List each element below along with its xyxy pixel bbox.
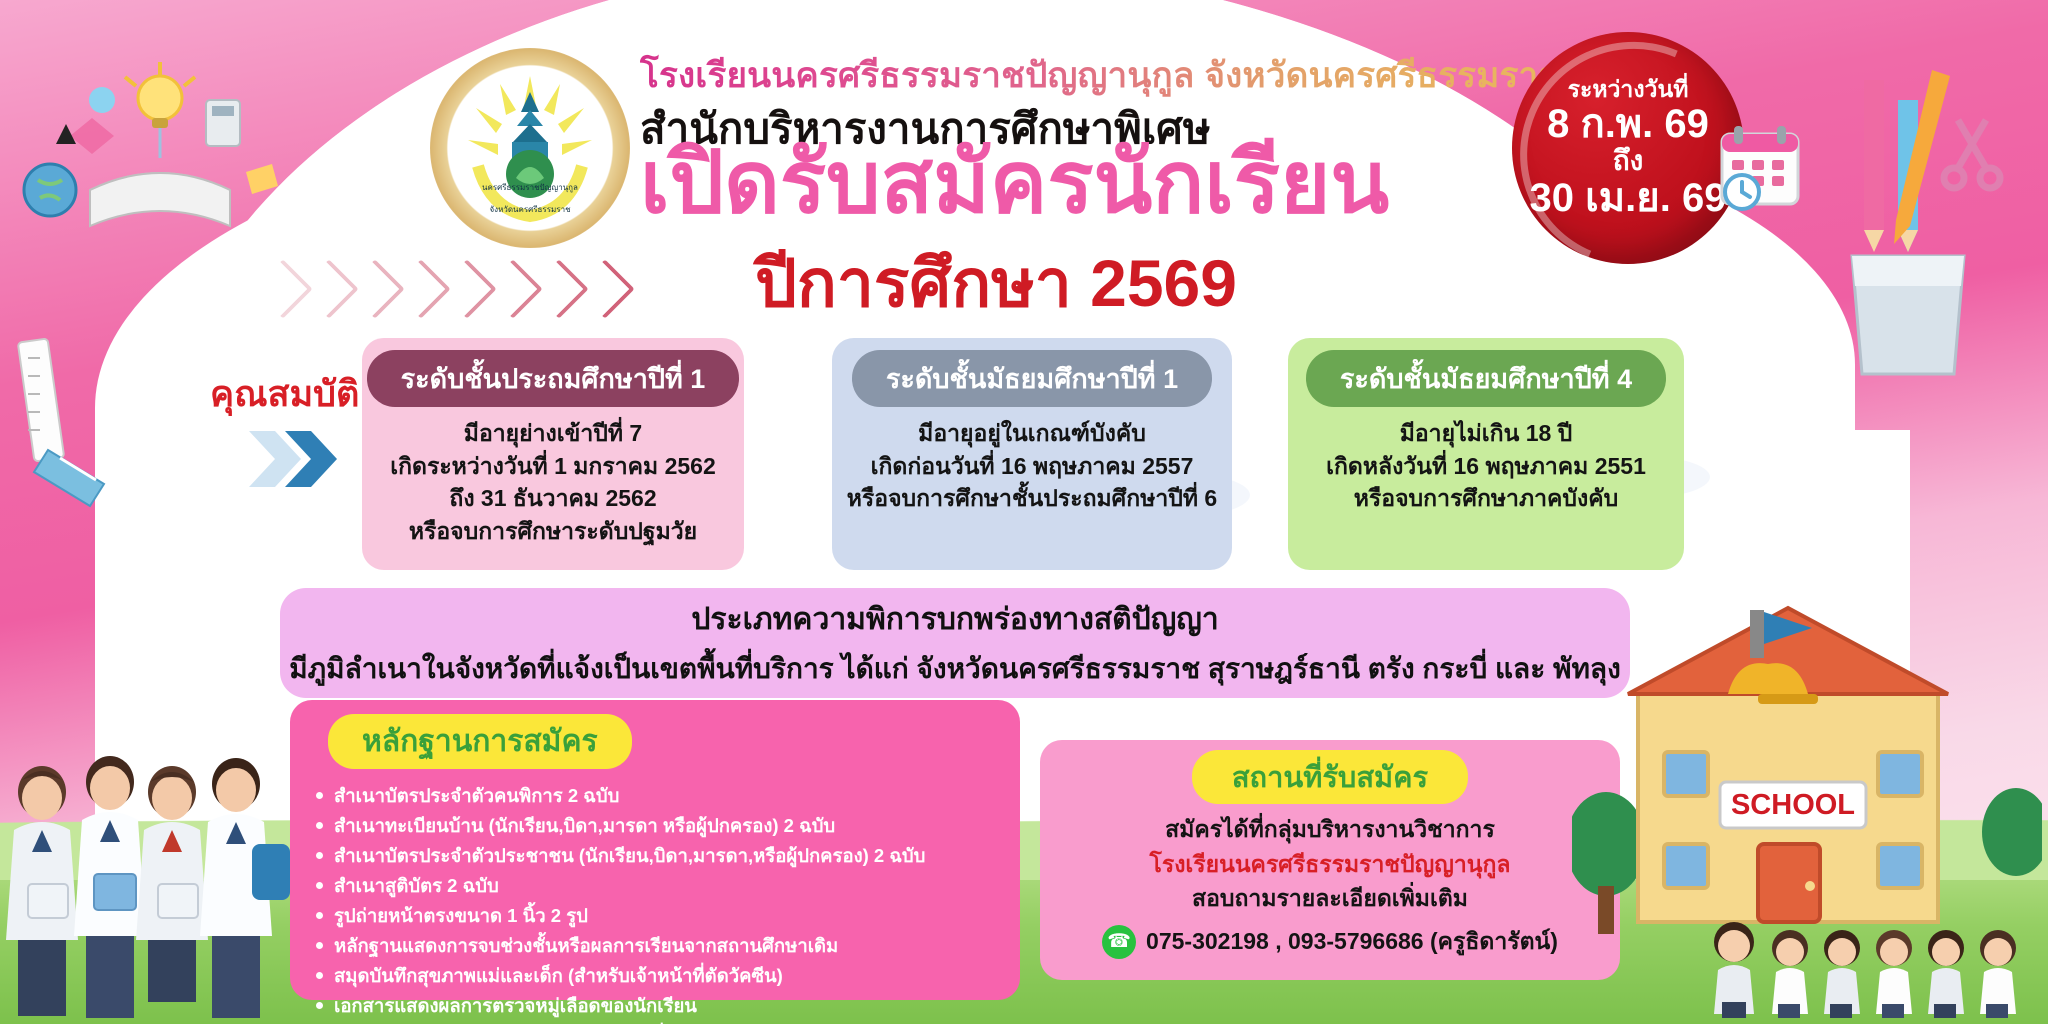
page-title-school: โรงเรียนนครศรีธรรมราชปัญญานุกูล จังหวัดน… <box>640 48 1670 103</box>
level-card-line: หรือจบการศึกษาภาคบังคับ <box>1288 482 1684 515</box>
list-item: สมุดบันทึกสุขภาพแม่และเด็ก (สำหรับเจ้าหน… <box>312 961 1002 991</box>
level-card-secondary-1: ระดับชั้นมัธยมศึกษาปีที่ 1 มีอายุอยู่ในเ… <box>832 338 1232 570</box>
disability-band-subtitle: มีภูมิลำเนาในจังหวัดที่แจ้งเป็นเขตพื้นที… <box>280 647 1630 691</box>
phone-icon: ☎ <box>1102 925 1136 959</box>
date-badge: ระหว่างวันที่ 8 ก.พ. 69 ถึง 30 เม.ย. 69 <box>1512 32 1744 264</box>
level-card-body: มีอายุไม่เกิน 18 ปี เกิดหลังวันที่ 16 พฤ… <box>1288 417 1684 515</box>
contact-line-school: โรงเรียนนครศรีธรรมราชปัญญานุกูล <box>1040 847 1620 882</box>
calendar-icon <box>1712 118 1808 214</box>
academic-year-headline: ปีการศึกษา 2569 <box>755 250 1237 316</box>
documents-list: สำเนาบัตรประจำตัวคนพิการ 2 ฉบับ สำเนาทะเ… <box>312 781 1002 1024</box>
svg-text:จังหวัดนครศรีธรรมราช: จังหวัดนครศรีธรรมราช <box>489 205 571 214</box>
contact-phone-number[interactable]: 075-302198 , 093-5796686 (ครูธิดารัตน์) <box>1146 924 1558 960</box>
list-item: รูปถ่ายหน้าตรงขนาด 1 นิ้ว 2 รูป <box>312 901 1002 931</box>
main-headline: เปิดรับสมัครนักเรียน <box>640 140 1389 226</box>
level-card-primary-1: ระดับชั้นประถมศึกษาปีที่ 1 มีอายุย่างเข้… <box>362 338 744 570</box>
date-badge-end: 30 เม.ย. 69 <box>1530 177 1727 219</box>
list-item: หลักฐานแสดงการจบช่วงชั้นหรือผลการเรียนจา… <box>312 931 1002 961</box>
contact-line-3: สอบถามรายละเอียดเพิ่มเติม <box>1040 881 1620 916</box>
level-card-line: หรือจบการศึกษาระดับปฐมวัย <box>362 515 744 548</box>
kids-row-icon <box>1708 898 2038 1018</box>
double-chevron-right-icon <box>245 425 345 495</box>
ruler-icon <box>12 330 162 510</box>
disability-band: ประเภทความพิการบกพร่องทางสติปัญญา มีภูมิ… <box>280 588 1630 698</box>
level-card-line: มีอายุย่างเข้าปีที่ 7 <box>362 417 744 450</box>
school-logo: นครศรีธรรมราชปัญญานุกูล จังหวัดนครศรีธรร… <box>430 48 630 248</box>
date-badge-label: ระหว่างวันที่ <box>1568 77 1689 101</box>
level-card-body: มีอายุอยู่ในเกณฑ์บังคับ เกิดก่อนวันที่ 1… <box>832 417 1232 515</box>
poster-root: นครศรีธรรมราชปัญญานุกูล จังหวัดนครศรีธรร… <box>0 0 2048 1024</box>
date-badge-connector: ถึง <box>1613 146 1644 175</box>
contact-line-1: สมัครได้ที่กลุ่มบริหารงานวิชาการ <box>1040 812 1620 847</box>
contact-title: สถานที่รับสมัคร <box>1192 750 1468 804</box>
level-card-body: มีอายุย่างเข้าปีที่ 7 เกิดระหว่างวันที่ … <box>362 417 744 548</box>
contact-box: สถานที่รับสมัคร สมัครได้ที่กลุ่มบริหารงา… <box>1040 740 1620 980</box>
level-card-line: ถึง 31 ธันวาคม 2562 <box>362 482 744 515</box>
level-card-title: ระดับชั้นประถมศึกษาปีที่ 1 <box>367 350 740 407</box>
level-card-line: มีอายุอยู่ในเกณฑ์บังคับ <box>832 417 1232 450</box>
level-card-line: เกิดหลังวันที่ 16 พฤษภาคม 2551 <box>1288 450 1684 483</box>
list-item: เอกสารแสดงผลการตรวจหมู่เลือดของนักเรียน <box>312 991 1002 1021</box>
chevron-decoration <box>262 268 626 310</box>
level-card-line: เกิดระหว่างวันที่ 1 มกราคม 2562 <box>362 450 744 483</box>
level-card-title: ระดับชั้นมัธยมศึกษาปีที่ 4 <box>1306 350 1666 407</box>
disability-band-title: ประเภทความพิการบกพร่องทางสติปัญญา <box>280 596 1630 643</box>
level-card-line: มีอายุไม่เกิน 18 ปี <box>1288 417 1684 450</box>
level-card-line: เกิดก่อนวันที่ 16 พฤษภาคม 2557 <box>832 450 1232 483</box>
chevron-right-icon <box>575 259 634 318</box>
school-sign-text: SCHOOL <box>1731 789 1855 821</box>
open-book-icon <box>10 40 330 270</box>
list-item: สำเนาบัตรประจำตัวประชาชน (นักเรียน,บิดา,… <box>312 841 1002 871</box>
list-item: สำเนาบัตรประจำตัวคนพิการ 2 ฉบับ <box>312 781 1002 811</box>
list-item: สำเนาสูติบัตร 2 ฉบับ <box>312 871 1002 901</box>
contact-phone-row[interactable]: ☎ 075-302198 , 093-5796686 (ครูธิดารัตน์… <box>1040 924 1620 960</box>
level-card-line: หรือจบการศึกษาชั้นประถมศึกษาปีที่ 6 <box>832 482 1232 515</box>
qualification-label: คุณสมบัติ <box>210 365 359 422</box>
documents-title: หลักฐานการสมัคร <box>328 714 632 769</box>
students-icon <box>0 734 300 1024</box>
pencil-icon <box>1798 60 2028 390</box>
date-badge-start: 8 ก.พ. 69 <box>1547 103 1709 145</box>
logo-emblem-icon: นครศรีธรรมราชปัญญานุกูล จังหวัดนครศรีธรร… <box>460 70 600 226</box>
svg-text:นครศรีธรรมราชปัญญานุกูล: นครศรีธรรมราชปัญญานุกูล <box>482 183 578 193</box>
level-card-title: ระดับชั้นมัธยมศึกษาปีที่ 1 <box>852 350 1212 407</box>
list-item: สำเนาทะเบียนบ้าน (นักเรียน,บิดา,มารดา หร… <box>312 811 1002 841</box>
documents-box: หลักฐานการสมัคร สำเนาบัตรประจำตัวคนพิการ… <box>290 700 1020 1000</box>
